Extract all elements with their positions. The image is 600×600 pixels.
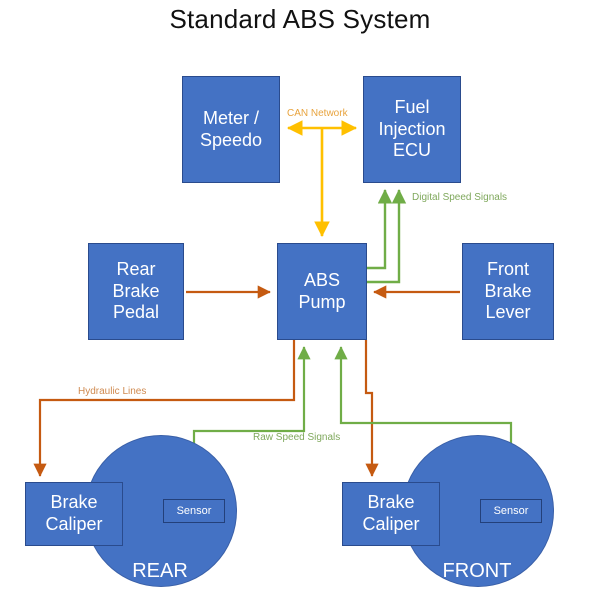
node-front-sensor[interactable]: Sensor [480,499,542,523]
node-front-brake-lever[interactable]: Front Brake Lever [462,243,554,340]
node-ecu-line2: Injection [378,119,445,141]
edge-hydraulic-front [366,340,372,476]
node-front-caliper-line2: Caliper [362,514,419,536]
node-abs-pump[interactable]: ABS Pump [277,243,367,340]
rear-wheel-label: REAR [110,560,210,583]
node-rear-pedal-line1: Rear [112,259,159,281]
node-rear-brake-caliper[interactable]: Brake Caliper [25,482,123,546]
rear-sensor-label: Sensor [177,505,212,517]
front-wheel-label: FRONT [427,560,527,583]
node-rear-sensor[interactable]: Sensor [163,499,225,523]
edge-label-digital-speed-signals: Digital Speed Signals [412,192,507,203]
node-front-lever-line1: Front [484,259,531,281]
node-front-brake-caliper[interactable]: Brake Caliper [342,482,440,546]
edge-label-hydraulic-lines: Hydraulic Lines [78,386,146,397]
node-ecu-line1: Fuel [378,97,445,119]
node-fuel-injection-ecu[interactable]: Fuel Injection ECU [363,76,461,183]
edge-digital-speed-signals [367,190,399,282]
edge-label-raw-speed-signals: Raw Speed Signals [253,432,340,443]
diagram-canvas: Standard ABS System [0,0,600,600]
node-abs-pump-line2: Pump [298,292,345,314]
node-rear-pedal-line2: Brake [112,281,159,303]
node-rear-caliper-line1: Brake [45,492,102,514]
node-abs-pump-line1: ABS [298,270,345,292]
node-ecu-line3: ECU [378,140,445,162]
node-front-lever-line3: Lever [484,302,531,324]
node-rear-caliper-line2: Caliper [45,514,102,536]
node-front-lever-line2: Brake [484,281,531,303]
node-meter-line1: Meter / [200,108,262,130]
node-rear-pedal-line3: Pedal [112,302,159,324]
node-meter-speedo[interactable]: Meter / Speedo [182,76,280,183]
node-rear-brake-pedal[interactable]: Rear Brake Pedal [88,243,184,340]
front-sensor-label: Sensor [494,505,529,517]
node-front-caliper-line1: Brake [362,492,419,514]
edge-can-network [288,128,356,236]
node-meter-line2: Speedo [200,130,262,152]
edge-label-can-network: CAN Network [287,108,348,119]
